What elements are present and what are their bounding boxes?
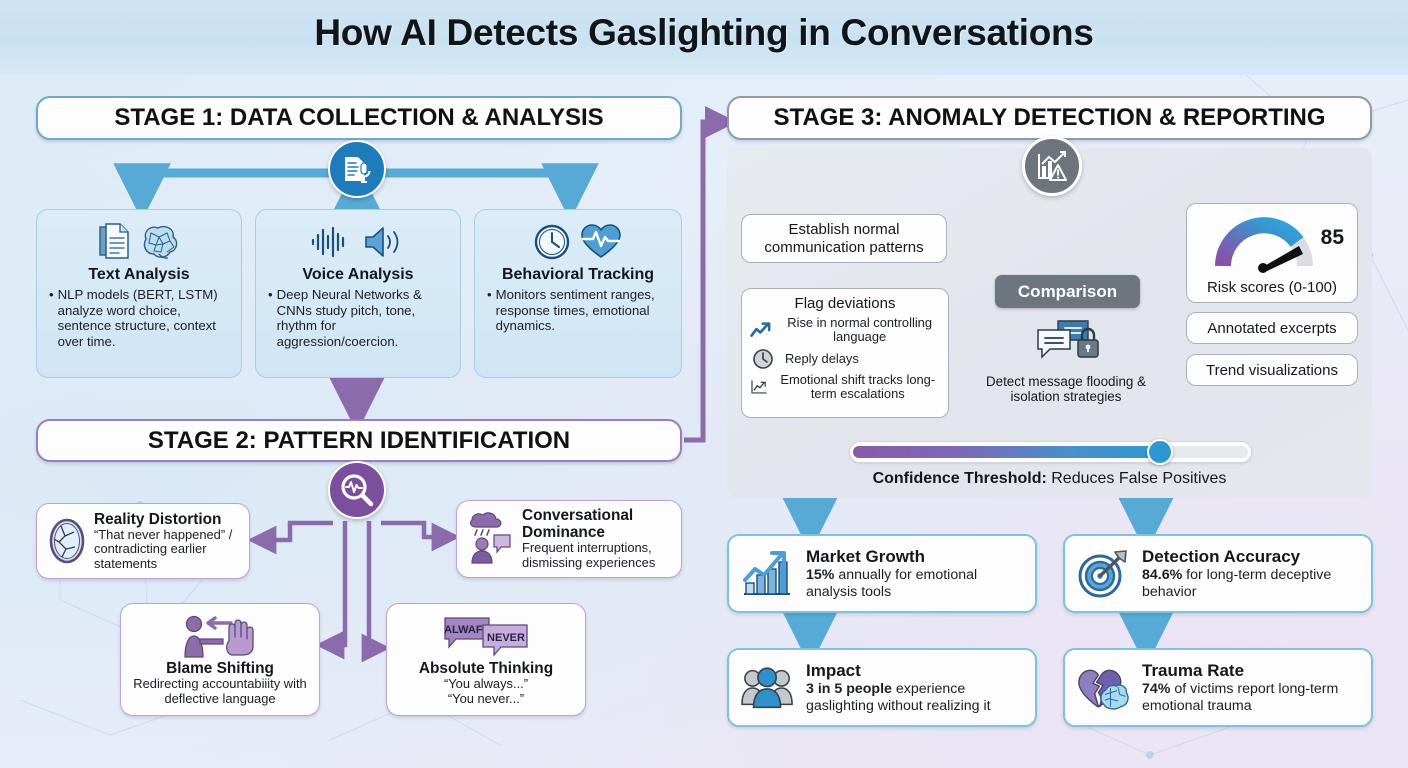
storm-cloud-person-icon — [467, 511, 515, 567]
stat-value: 74% — [1142, 681, 1170, 697]
stage1-card-title: Behavioral Tracking — [487, 266, 669, 284]
stage2-card-absolute-thinking[interactable]: ALWAFS NEVER Absolute Thinking “You alwa… — [386, 603, 586, 716]
line-chart-icon — [750, 375, 769, 399]
slider-knob[interactable] — [1147, 439, 1173, 465]
stat-card-detection-accuracy[interactable]: Detection Accuracy 84.6% for long-term d… — [1063, 534, 1373, 613]
stage1-card-body: • NLP models (BERT, LSTM) analyze word c… — [49, 287, 229, 349]
confidence-threshold-slider[interactable] — [849, 441, 1252, 463]
infographic-root: How AI Detects Gaslighting in Conversati… — [0, 0, 1408, 768]
stage2-banner: STAGE 2: PATTERN IDENTIFICATION — [36, 419, 682, 462]
flag-item-rise-controlling-language: Rise in normal controlling language — [750, 316, 940, 345]
confidence-threshold-caption: Confidence Threshold: Reduces False Posi… — [727, 470, 1372, 488]
gauge-value: 85 — [1321, 226, 1344, 250]
stage1-card-body-text: Monitors sentiment ranges, response time… — [496, 287, 669, 334]
target-dart-icon — [1077, 547, 1131, 601]
reality-distortion-text: Reality Distortion “That never happened”… — [94, 511, 239, 572]
detection-accuracy-text: Detection Accuracy 84.6% for long-term d… — [1142, 547, 1359, 600]
stat-body: 15% annually for emotional analysis tool… — [806, 567, 1023, 600]
stage2-card-reality-distortion[interactable]: Reality Distortion “That never happened”… — [36, 503, 250, 579]
stat-body: 3 in 5 people experience gaslighting wit… — [806, 681, 1023, 714]
stat-body: 84.6% for long-term deceptive behavior — [1142, 567, 1359, 600]
impact-text: Impact 3 in 5 people experience gaslight… — [806, 661, 1023, 714]
chart-warning-icon — [1022, 136, 1082, 196]
caption-bold: Confidence Threshold: — [873, 470, 1047, 487]
stat-text: of victims report long-term emotional tr… — [1142, 681, 1338, 713]
stage3-banner: STAGE 3: ANOMALY DETECTION & REPORTING — [727, 96, 1372, 140]
pointing-person-hand-icon — [176, 613, 264, 659]
stage2-card-blame-shifting[interactable]: Blame Shifting Redirecting accountabiiit… — [120, 603, 320, 716]
magnifier-pulse-icon — [328, 461, 386, 519]
clock-icon — [750, 348, 778, 370]
stage3-trend-visualizations[interactable]: Trend visualizations — [1186, 354, 1358, 386]
text-analysis-icons — [49, 220, 229, 264]
document-microphone-icon — [328, 140, 386, 198]
flag-item-emotional-shift: Emotional shift tracks long-term escalat… — [750, 373, 940, 402]
conversational-dominance-text: Conversational Dominance Frequent interr… — [522, 507, 671, 570]
trend-up-arrow-icon — [750, 319, 772, 341]
stage3-detect-message-flooding: Detect message flooding & isolation stra… — [985, 318, 1147, 404]
stage1-card-behavioral-tracking[interactable]: Behavioral Tracking • Monitors sentiment… — [474, 209, 682, 378]
bullet-marker: • — [268, 287, 273, 349]
stage1-card-title: Voice Analysis — [268, 266, 448, 284]
cracked-mirror-icon — [47, 515, 87, 567]
blame-shifting-icon-row — [131, 612, 309, 660]
flag-deviations-title: Flag deviations — [750, 295, 940, 312]
stat-title: Market Growth — [806, 547, 1023, 567]
stage2-card-conversational-dominance[interactable]: Conversational Dominance Frequent interr… — [456, 500, 682, 578]
stat-title: Trauma Rate — [1142, 661, 1359, 681]
stage2-card-title: Blame Shifting — [131, 660, 309, 677]
chat-lock-icon — [1024, 318, 1108, 366]
waveform-icon — [310, 224, 356, 260]
stage1-card-text-analysis[interactable]: Text Analysis • NLP models (BERT, LSTM) … — [36, 209, 242, 378]
stat-title: Impact — [806, 661, 1023, 681]
risk-scores-label: Risk scores (0-100) — [1187, 279, 1357, 296]
stat-card-impact[interactable]: Impact 3 in 5 people experience gaslight… — [727, 648, 1037, 727]
stage2-card-body: Redirecting accountabiiity with deflecti… — [131, 677, 309, 706]
page-title: How AI Detects Gaslighting in Conversati… — [0, 12, 1408, 54]
slider-fill — [853, 446, 1160, 458]
people-group-icon — [741, 661, 795, 715]
bullet-marker: • — [487, 287, 492, 334]
absolute-thinking-icon-row: ALWAFS NEVER — [397, 612, 575, 660]
heart-pulse-icon — [580, 222, 624, 262]
stage1-banner: STAGE 1: DATA COLLECTION & ANALYSIS — [36, 96, 682, 140]
stage3-flag-deviations-box[interactable]: Flag deviations Rise in normal controlli… — [741, 288, 949, 418]
flag-item-reply-delays: Reply delays — [750, 348, 940, 370]
speaker-icon — [363, 224, 407, 260]
stage1-card-body-text: Deep Neural Networks & CNNs study pitch,… — [277, 287, 448, 349]
stage1-card-body: • Monitors sentiment ranges, response ti… — [487, 287, 669, 334]
stat-card-trauma-rate[interactable]: Trauma Rate 74% of victims report long-t… — [1063, 648, 1373, 727]
brain-network-icon — [139, 223, 181, 261]
trauma-rate-text: Trauma Rate 74% of victims report long-t… — [1142, 661, 1359, 714]
stage3-establish-normal-box[interactable]: Establish normal communication patterns — [741, 214, 947, 263]
flag-item-text: Reply delays — [785, 352, 859, 366]
voice-analysis-icons — [268, 220, 448, 264]
stage2-card-body: “You always...” “You never...” — [397, 677, 575, 706]
stage1-card-voice-analysis[interactable]: Voice Analysis • Deep Neural Networks & … — [255, 209, 461, 378]
stage3-comparison-button[interactable]: Comparison — [995, 275, 1140, 308]
stat-body: 74% of victims report long-term emotiona… — [1142, 681, 1359, 714]
stage1-card-title: Text Analysis — [49, 266, 229, 284]
bullet-marker: • — [49, 287, 54, 349]
stage2-card-body: Frequent interruptions, dismissing exper… — [522, 541, 671, 570]
stage3-annotated-excerpts[interactable]: Annotated excerpts — [1186, 312, 1358, 344]
stat-value: 3 in 5 people — [806, 681, 892, 697]
slider-remainder — [1160, 446, 1248, 458]
stage1-card-body-text: NLP models (BERT, LSTM) analyze word cho… — [58, 287, 229, 349]
clock-icon — [533, 222, 573, 262]
broken-heart-brain-icon — [1077, 661, 1131, 715]
growth-chart-icon — [741, 547, 795, 601]
stage1-card-body: • Deep Neural Networks & CNNs study pitc… — [268, 287, 448, 349]
stat-card-market-growth[interactable]: Market Growth 15% annually for emotional… — [727, 534, 1037, 613]
detect-label: Detect message flooding & isolation stra… — [985, 374, 1147, 404]
behavioral-tracking-icons — [487, 220, 669, 264]
flag-item-text: Emotional shift tracks long-term escalat… — [776, 373, 940, 402]
speech-bubbles-icon: ALWAFS NEVER — [431, 612, 541, 660]
stage3-risk-scores-card[interactable]: 85 Risk scores (0-100) — [1186, 203, 1358, 303]
flag-item-text: Rise in normal controlling language — [779, 316, 940, 345]
caption-rest: Reduces False Positives — [1047, 470, 1227, 487]
stage2-card-body: “That never happened” / contradicting ea… — [94, 528, 239, 572]
stage2-card-title: Reality Distortion — [94, 511, 239, 528]
stage2-card-title: Conversational Dominance — [522, 507, 671, 541]
stat-value: 84.6% — [1142, 567, 1182, 583]
stat-title: Detection Accuracy — [1142, 547, 1359, 567]
stat-value: 15% — [806, 567, 834, 583]
stage2-card-title: Absolute Thinking — [397, 660, 575, 677]
document-icon — [98, 222, 132, 262]
bubble-label-never: NEVER — [487, 632, 525, 644]
market-growth-text: Market Growth 15% annually for emotional… — [806, 547, 1023, 600]
